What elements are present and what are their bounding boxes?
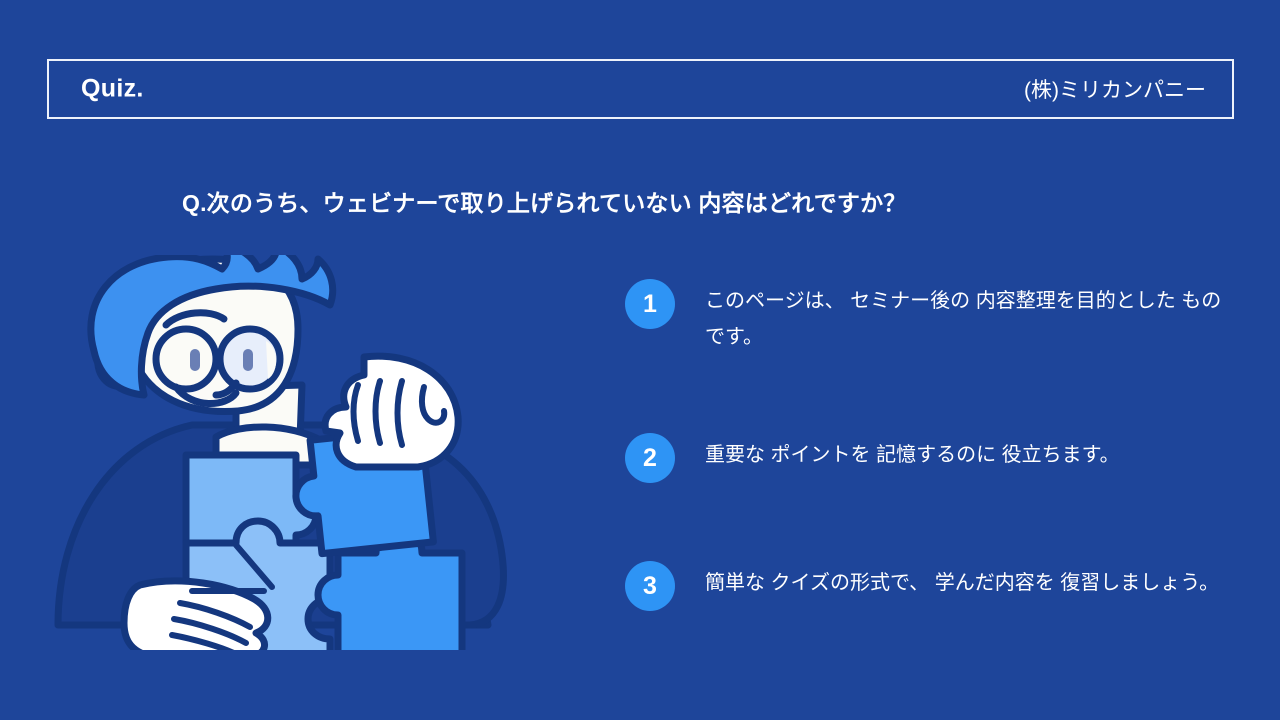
answer-option-2[interactable]: 2 重要な ポイントを 記憶するのに 役立ちます。: [625, 437, 1240, 483]
answer-number-badge-1: 1: [625, 279, 675, 329]
answer-text-3: 簡単な クイズの形式で、 学んだ内容を 復習しましょう。: [705, 565, 1219, 601]
header-bar: Quiz. (株)ミリカンパニー: [47, 59, 1234, 119]
person-assembling-puzzle-illustration: [40, 255, 560, 650]
company-name: (株)ミリカンパニー: [1024, 74, 1206, 104]
answer-option-1[interactable]: 1 このページは、 セミナー後の 内容整理を目的とした ものです。: [625, 283, 1240, 355]
pupil-right: [243, 349, 253, 371]
answer-option-3[interactable]: 3 簡単な クイズの形式で、 学んだ内容を 復習しましょう。: [625, 565, 1240, 611]
answer-list: 1 このページは、 セミナー後の 内容整理を目的とした ものです。 2 重要な …: [625, 283, 1240, 611]
answer-number-badge-3: 3: [625, 561, 675, 611]
pupil-left: [190, 349, 200, 371]
answer-text-1: このページは、 セミナー後の 内容整理を目的とした ものです。: [705, 283, 1240, 355]
page-title: Quiz.: [81, 75, 144, 104]
slide-canvas: Quiz. (株)ミリカンパニー Q.次のうち、ウェビナーで取り上げられていない…: [0, 0, 1280, 720]
answer-text-2: 重要な ポイントを 記憶するのに 役立ちます。: [705, 437, 1120, 473]
answer-number-badge-2: 2: [625, 433, 675, 483]
glasses-left-lens: [156, 329, 216, 389]
quiz-question: Q.次のうち、ウェビナーで取り上げられていない 内容はどれですか？: [182, 184, 907, 218]
right-hand-shape: [325, 356, 458, 467]
